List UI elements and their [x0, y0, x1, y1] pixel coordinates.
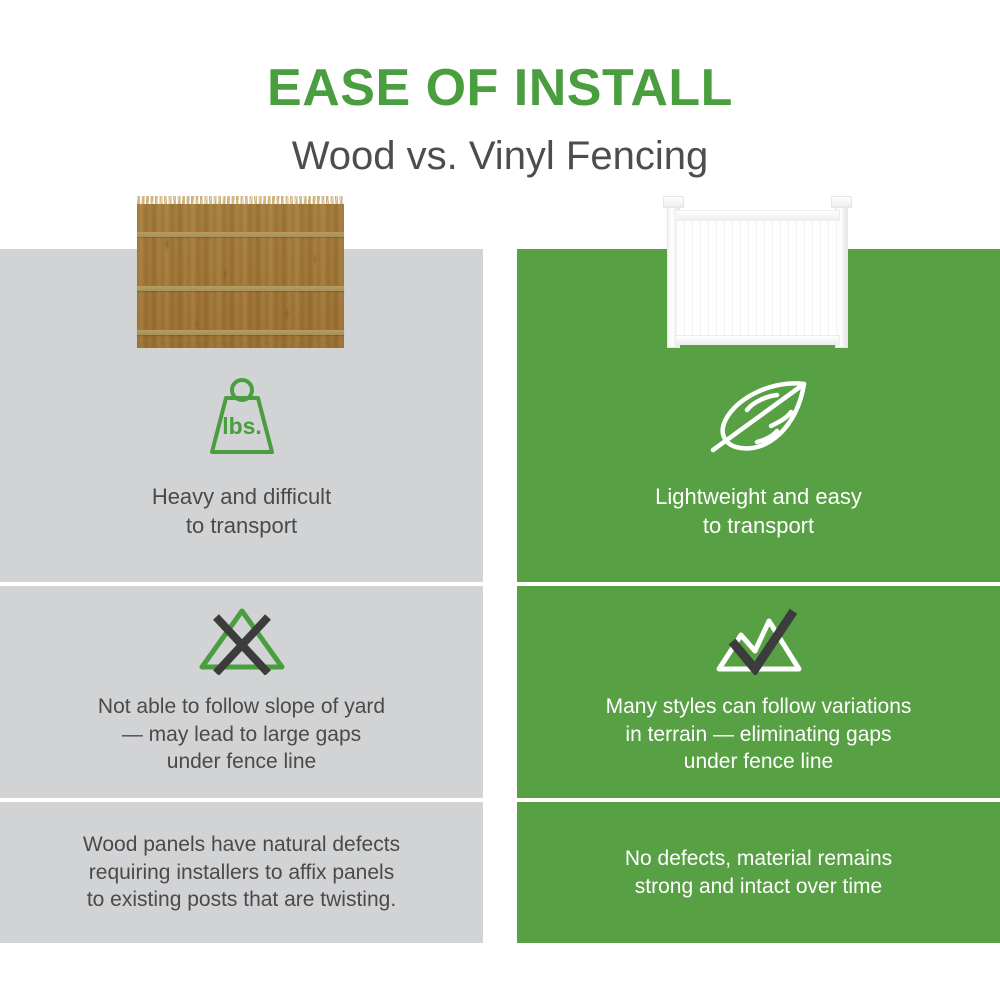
- terrain-check-icon: [711, 603, 807, 675]
- wood-slope-text: Not able to follow slope of yard — may l…: [98, 693, 385, 776]
- header: EASE OF INSTALL Wood vs. Vinyl Fencing: [0, 0, 1000, 176]
- weight-icon-label: lbs.: [222, 413, 262, 439]
- infographic-page: EASE OF INSTALL Wood vs. Vinyl Fencing l…: [0, 0, 1000, 1000]
- page-subtitle: Wood vs. Vinyl Fencing: [0, 114, 1000, 176]
- vinyl-column: Lightweight and easy to transport Many s…: [517, 249, 1000, 943]
- slope-x-icon: [194, 603, 290, 675]
- wood-fence-dog-ear-tops: [137, 196, 344, 208]
- wood-row-slope: Not able to follow slope of yard — may l…: [0, 586, 483, 798]
- vinyl-fence-post-cap: [831, 196, 852, 208]
- wood-defects-text: Wood panels have natural defects requiri…: [83, 831, 400, 914]
- vinyl-transport-text: Lightweight and easy to transport: [655, 482, 862, 540]
- vinyl-row-transport: Lightweight and easy to transport: [517, 249, 1000, 582]
- page-title: EASE OF INSTALL: [0, 0, 1000, 114]
- wood-fence-rail: [137, 232, 344, 237]
- vinyl-row-defects: No defects, material remains strong and …: [517, 802, 1000, 943]
- wood-row-defects: Wood panels have natural defects requiri…: [0, 802, 483, 943]
- leaf-icon: [705, 376, 813, 458]
- vinyl-row-terrain: Many styles can follow variations in ter…: [517, 586, 1000, 798]
- wood-column: lbs. Heavy and difficult to transport No…: [0, 249, 483, 943]
- weight-icon: lbs.: [196, 376, 288, 460]
- vinyl-fence-top-rail: [675, 210, 840, 221]
- vinyl-fence-post-cap: [663, 196, 684, 208]
- wood-transport-text: Heavy and difficult to transport: [152, 482, 331, 540]
- vinyl-defects-text: No defects, material remains strong and …: [625, 845, 892, 900]
- vinyl-terrain-text: Many styles can follow variations in ter…: [606, 693, 912, 776]
- wood-row-transport: lbs. Heavy and difficult to transport: [0, 249, 483, 582]
